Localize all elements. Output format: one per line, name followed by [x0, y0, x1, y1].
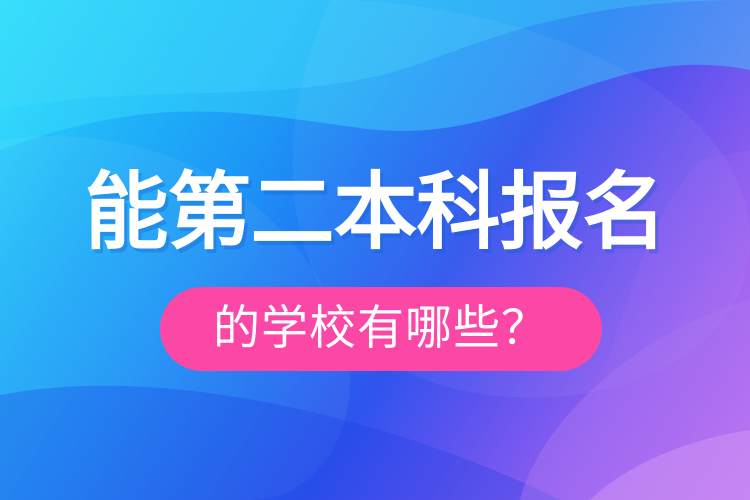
banner-content: 能第二本科报名 的学校有哪些？ — [0, 0, 750, 500]
banner-subtitle-text: 的学校有哪些？ — [213, 304, 549, 354]
banner-subtitle-pill: 的学校有哪些？ — [160, 287, 602, 371]
banner-headline: 能第二本科报名 — [0, 170, 750, 254]
promo-banner: 能第二本科报名 的学校有哪些？ — [0, 0, 750, 500]
